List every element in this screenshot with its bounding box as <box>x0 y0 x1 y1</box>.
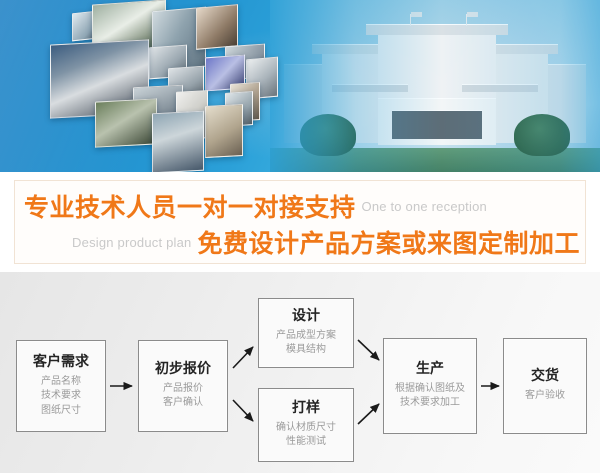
page-root: company photo montage and headquarters b… <box>0 0 600 473</box>
flow-step-title: 生产 <box>416 361 444 378</box>
flow-step-detail: 技术要求加工 <box>400 396 460 411</box>
montage-photo <box>152 111 204 172</box>
flow-step-title: 打样 <box>292 400 320 417</box>
flow-step-sample: 打样 确认材质尺寸 性能测试 <box>258 388 354 462</box>
flow-step-detail: 客户验收 <box>525 389 565 404</box>
flow-step-title: 设计 <box>292 308 320 325</box>
montage-photo <box>196 4 238 50</box>
flow-step-detail: 客户确认 <box>163 396 203 411</box>
flow-step-design: 设计 产品成型方案 模具结构 <box>258 298 354 368</box>
flow-step-detail: 产品名称 <box>41 375 81 390</box>
slogan-line1-english: One to one reception <box>356 199 493 214</box>
slogan-line-2: Design product plan免费设计产品方案或来图定制加工 <box>24 224 580 260</box>
flow-step-title: 交货 <box>531 368 559 385</box>
slogan-line1-chinese: 专业技术人员一对一对接支持 <box>24 193 356 222</box>
flow-step-detail: 确认材质尺寸 <box>276 421 336 436</box>
flow-step-delivery: 交货 客户验收 <box>503 338 587 434</box>
montage-photo <box>95 98 157 147</box>
flow-step-detail: 模具结构 <box>286 343 326 358</box>
flow-step-detail: 图纸尺寸 <box>41 404 81 419</box>
flow-step-need: 客户需求 产品名称 技术要求 图纸尺寸 <box>16 340 106 432</box>
slogan-line-1: 专业技术人员一对一对接支持One to one reception <box>24 188 493 224</box>
flow-step-detail: 产品报价 <box>163 382 203 397</box>
flow-step-detail: 技术要求 <box>41 389 81 404</box>
flow-step-detail: 性能测试 <box>286 435 326 450</box>
flow-step-production: 生产 根据确认图纸及 技术要求加工 <box>383 338 477 434</box>
slogan-line2-chinese: 免费设计产品方案或来图定制加工 <box>197 229 580 258</box>
slogan-strip: 专业技术人员一对一对接支持One to one reception Design… <box>0 172 600 272</box>
hero-banner: company photo montage and headquarters b… <box>0 0 600 172</box>
flow-step-detail: 产品成型方案 <box>276 329 336 344</box>
montage-photo <box>205 104 243 158</box>
flow-step-title: 初步报价 <box>155 361 211 378</box>
slogan-line2-english: Design product plan <box>66 235 197 250</box>
blue-haze-overlay <box>270 0 600 172</box>
flow-step-detail: 根据确认图纸及 <box>395 382 465 397</box>
headquarters-building-image <box>270 0 600 172</box>
flow-step-quote: 初步报价 产品报价 客户确认 <box>138 340 228 432</box>
flow-step-title: 客户需求 <box>33 354 89 371</box>
